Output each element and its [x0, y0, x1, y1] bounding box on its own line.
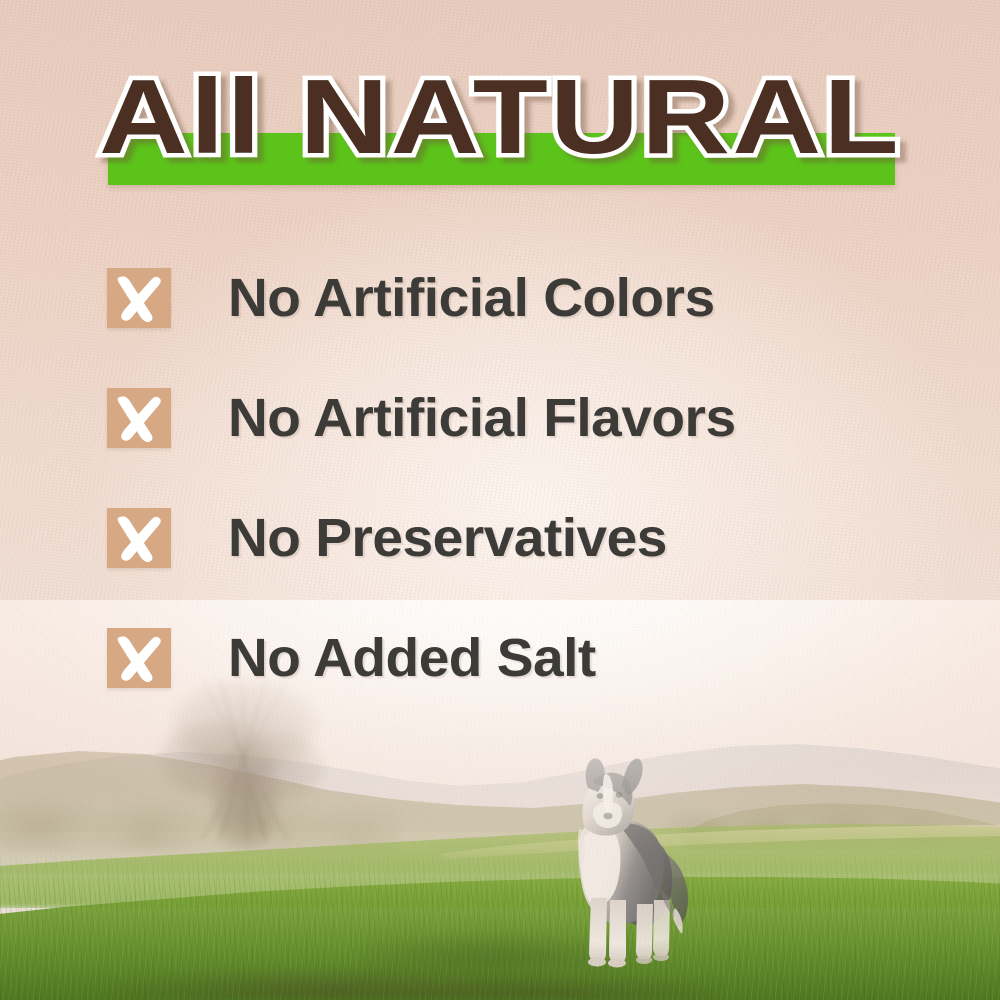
x-mark-icon	[107, 388, 171, 448]
list-item: No Artificial Colors	[107, 262, 937, 382]
x-mark-icon	[107, 628, 171, 688]
x-mark-icon	[107, 508, 171, 568]
x-mark-icon	[107, 268, 171, 328]
poster: All NATURAL No Artificial Colors No Arti…	[0, 0, 1000, 1000]
list-item: No Artificial Flavors	[107, 382, 937, 502]
list-item-label: No Added Salt	[228, 622, 596, 694]
dog-photo	[536, 748, 706, 978]
list-item: No Added Salt	[107, 622, 937, 742]
page-title: All NATURAL	[0, 62, 1000, 172]
feature-checklist: No Artificial Colors No Artificial Flavo…	[107, 262, 937, 742]
list-item-label: No Artificial Flavors	[228, 382, 736, 454]
list-item-label: No Artificial Colors	[228, 262, 715, 334]
list-item-label: No Preservatives	[228, 502, 667, 574]
list-item: No Preservatives	[107, 502, 937, 622]
